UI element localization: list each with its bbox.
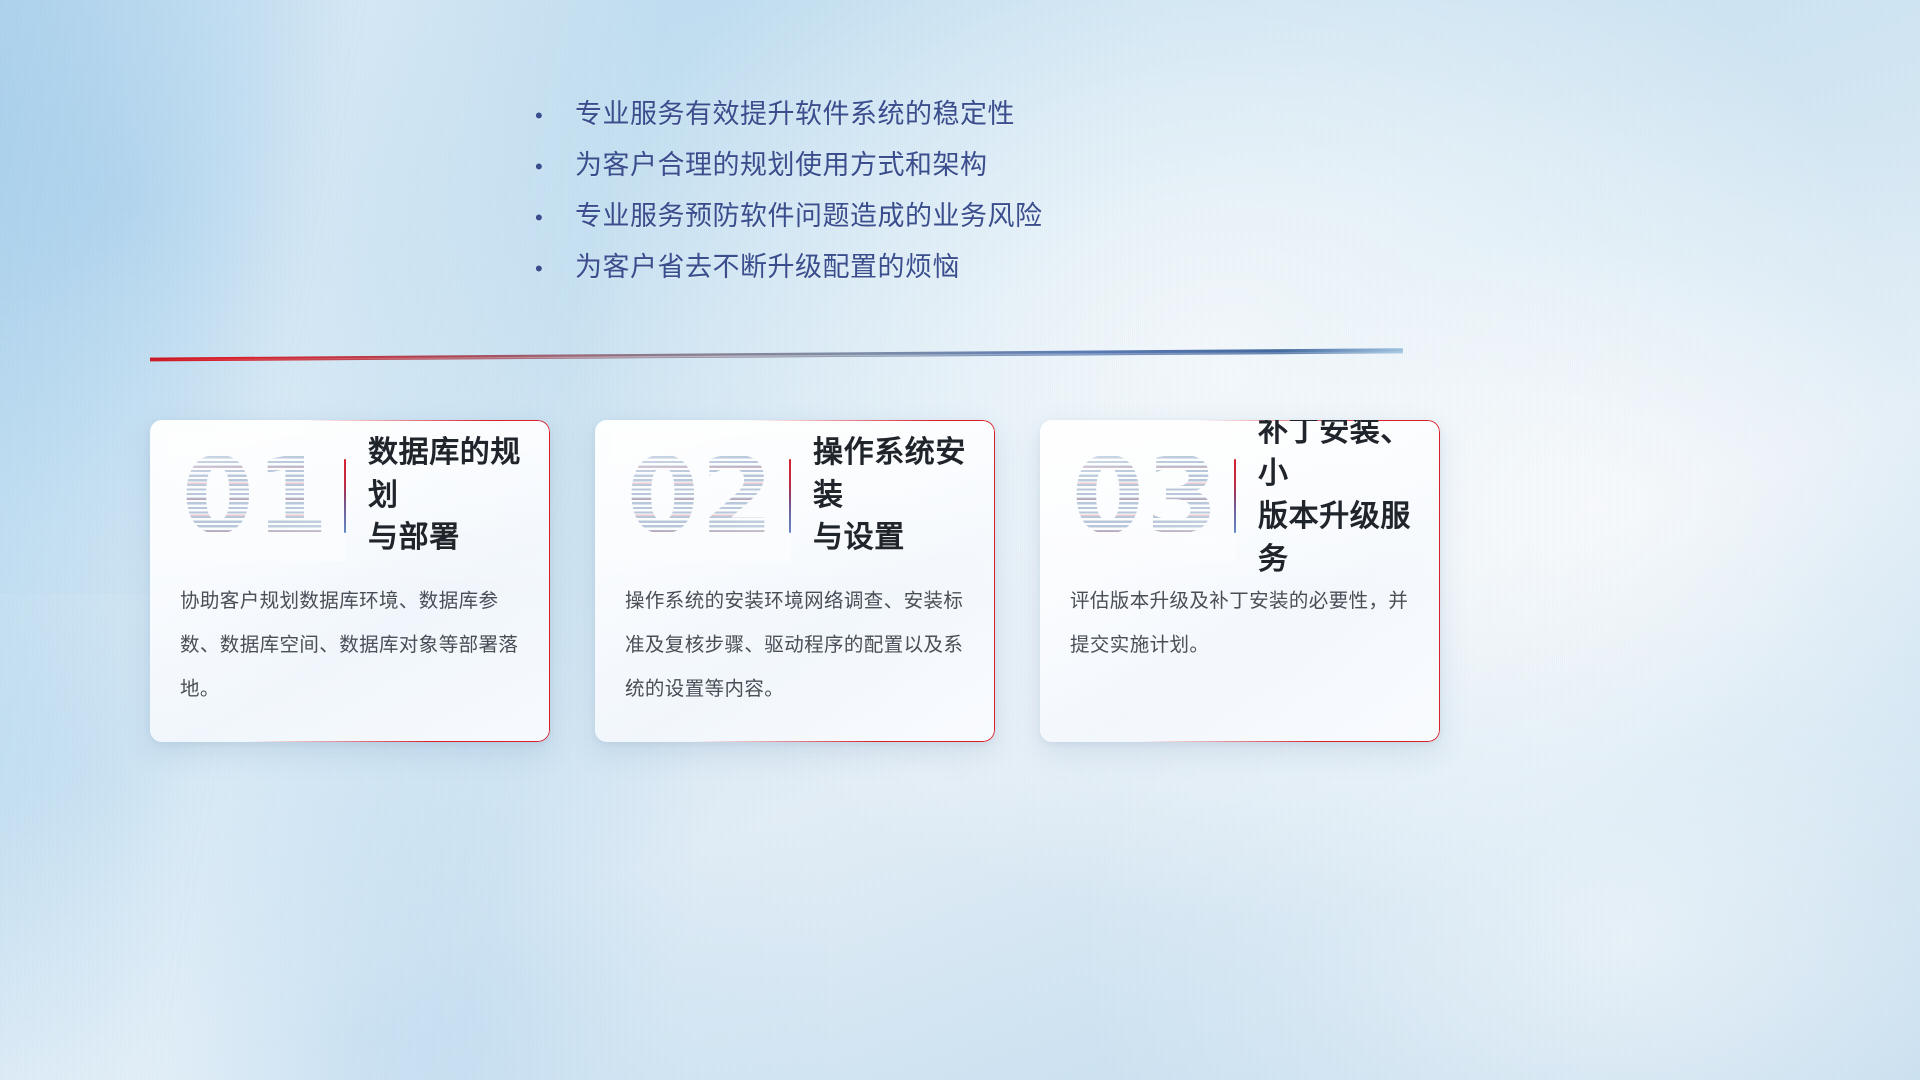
card-number-graphic: 01 01 [172,437,340,555]
card-title-line1: 操作系统安装 [813,436,966,512]
card-header: 03 03 补丁安装、小 版本升级服务 [1040,420,1440,572]
card-header: 01 01 数据库的规划 与部署 [150,420,550,572]
bullet-text: 为客户合理的规划使用方式和架构 [575,143,988,182]
bullet-item: • 专业服务有效提升软件系统的稳定性 [535,92,1235,143]
card-number-graphic: 03 03 [1062,437,1230,555]
card-number-graphic: 02 02 [617,437,785,555]
service-card[interactable]: 02 02 操作系统安装 与设置 操作系统的安装环境网络调查、安装标准及复核步骤… [595,420,995,742]
card-body-text: 评估版本升级及补丁安装的必要性，并提交实施计划。 [1040,572,1440,668]
bullet-text: 专业服务预防软件问题造成的业务风险 [575,194,1043,233]
card-body-text: 协助客户规划数据库环境、数据库参数、数据库空间、数据库对象等部署落地。 [150,572,550,712]
card-title-line2: 与设置 [813,521,905,554]
bullet-item: • 为客户省去不断升级配置的烦恼 [535,245,1235,296]
bullet-item: • 专业服务预防软件问题造成的业务风险 [535,194,1235,245]
bullet-dot-icon: • [535,105,575,127]
card-title-line1: 补丁安装、小 [1258,420,1411,490]
bullet-text: 专业服务有效提升软件系统的稳定性 [575,92,1015,131]
card-title-line2: 版本升级服务 [1258,500,1411,576]
bullet-dot-icon: • [535,258,575,280]
bullet-dot-icon: • [535,207,575,229]
card-number-red-stripes: 01 [172,437,340,555]
card-number-red-stripes: 02 [617,437,785,555]
bullet-list: • 专业服务有效提升软件系统的稳定性 • 为客户合理的规划使用方式和架构 • 专… [535,92,1235,296]
card-row: 01 01 数据库的规划 与部署 协助客户规划数据库环境、数据库参数、数据库空间… [150,420,1770,750]
card-number-red-stripes: 03 [1062,437,1230,555]
card-title-rule [789,459,791,533]
card-title-line2: 与部署 [368,521,460,554]
card-title-rule [1234,459,1236,533]
card-title: 数据库的规划 与部署 [368,432,550,560]
service-card[interactable]: 01 01 数据库的规划 与部署 协助客户规划数据库环境、数据库参数、数据库空间… [150,420,550,742]
card-header: 02 02 操作系统安装 与设置 [595,420,995,572]
card-title: 操作系统安装 与设置 [813,432,995,560]
service-card[interactable]: 03 03 补丁安装、小 版本升级服务 评估版本升级及补丁安装的必要性，并提交实… [1040,420,1440,742]
bullet-text: 为客户省去不断升级配置的烦恼 [575,245,960,284]
bullet-item: • 为客户合理的规划使用方式和架构 [535,143,1235,194]
bullet-dot-icon: • [535,156,575,178]
card-body-text: 操作系统的安装环境网络调查、安装标准及复核步骤、驱动程序的配置以及系统的设置等内… [595,572,995,712]
card-title: 补丁安装、小 版本升级服务 [1258,420,1440,581]
card-title-rule [344,459,346,533]
card-title-line1: 数据库的规划 [368,436,521,512]
